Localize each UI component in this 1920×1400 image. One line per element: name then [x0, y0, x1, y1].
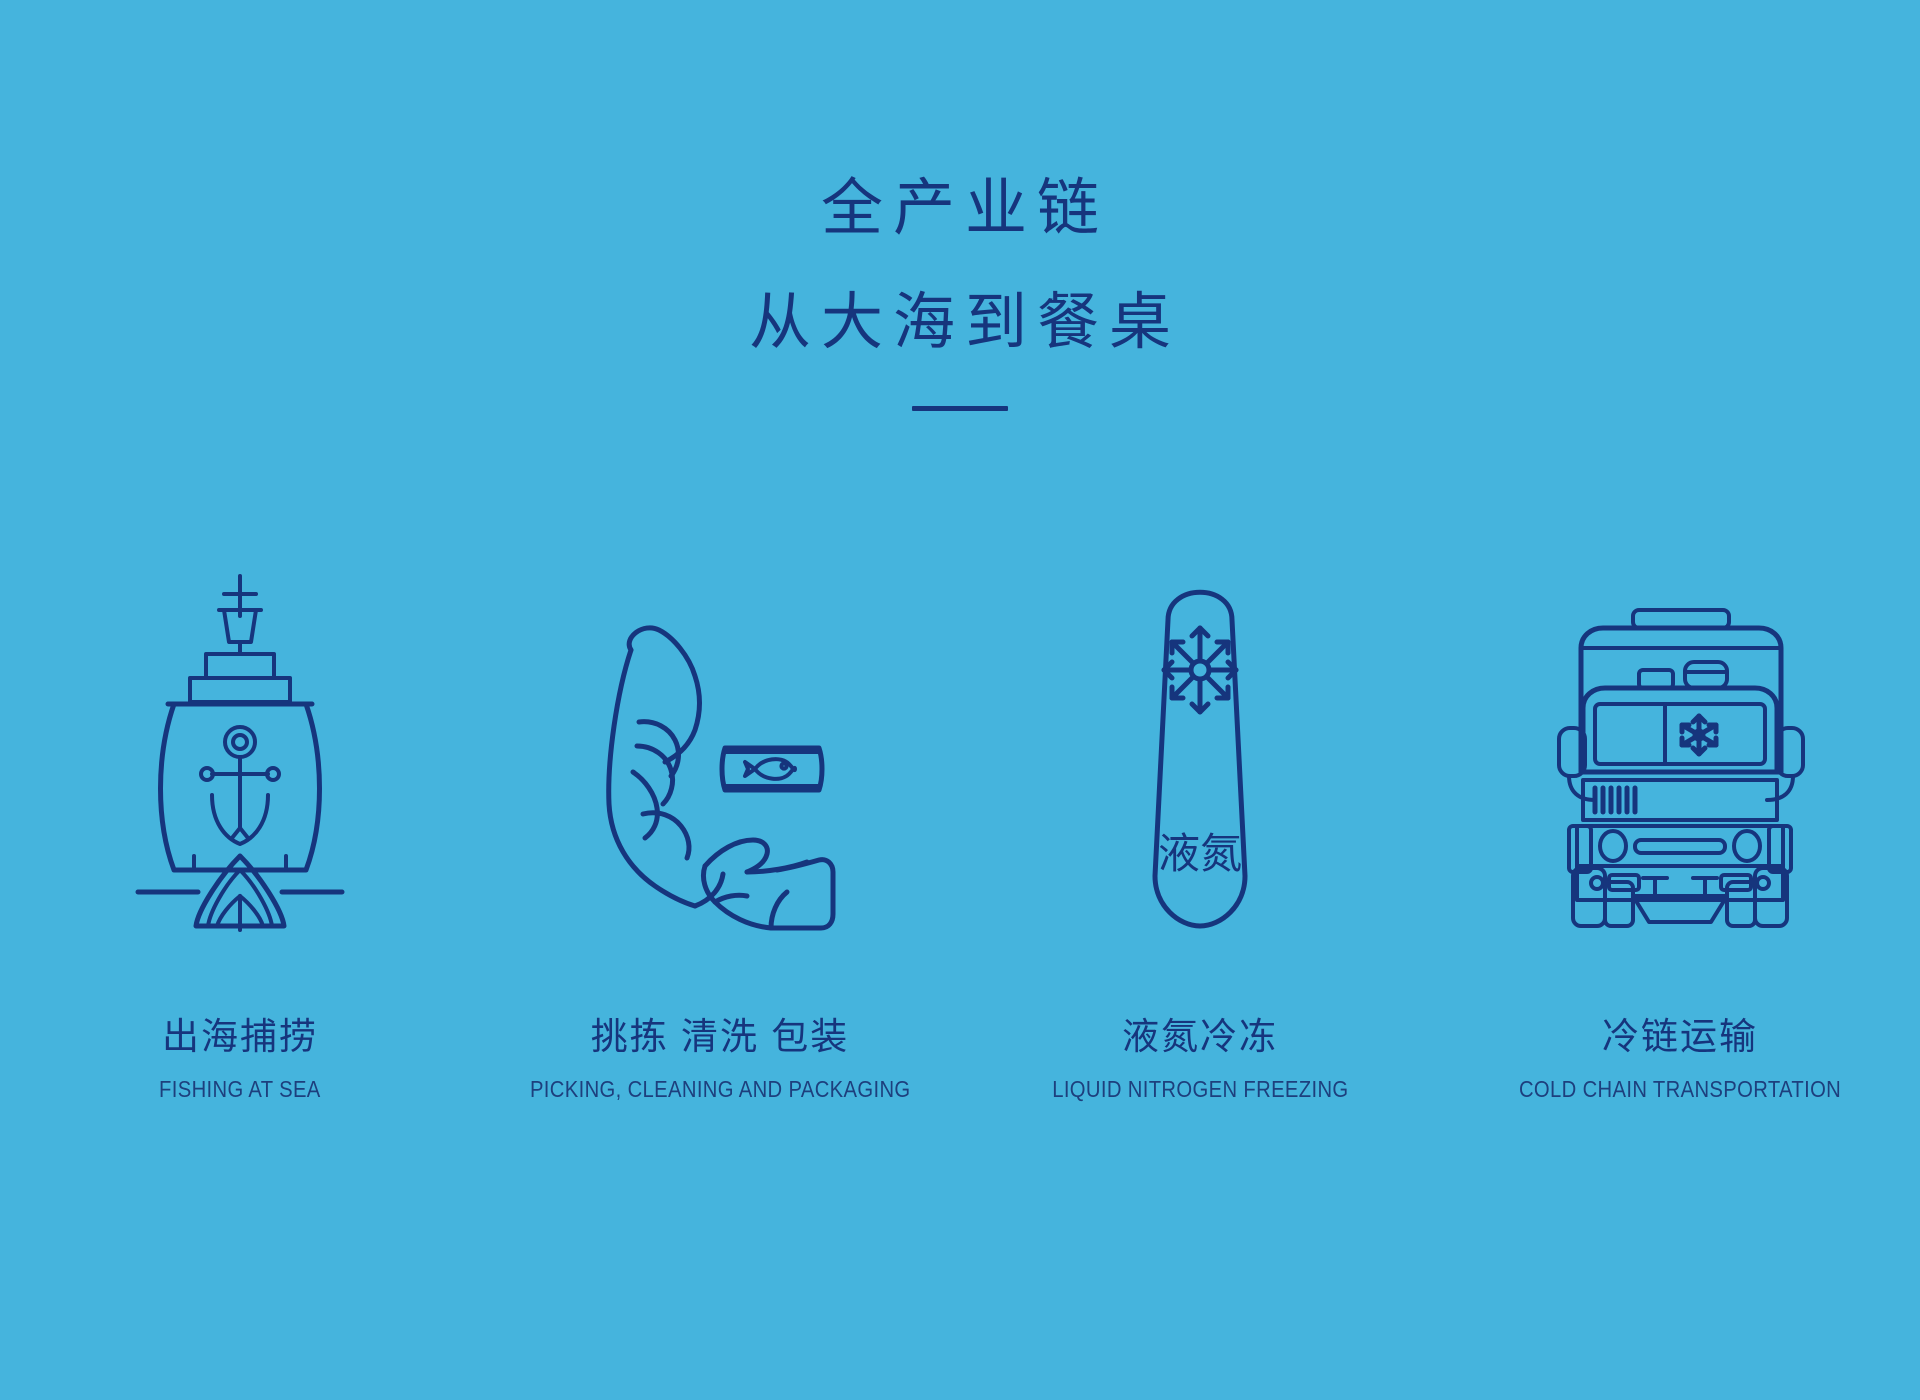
page-root: { "theme": { "background": "#45b4dd", "i…	[0, 0, 1920, 1400]
step-label-cn: 冷链运输	[1497, 1018, 1863, 1055]
grille-slats	[1595, 788, 1635, 812]
step-label-cn: 出海捕捞	[148, 1018, 332, 1055]
title-divider	[912, 406, 1008, 411]
step-cold-chain-transportation[interactable]: 冷链运输 COLD CHAIN TRANSPORTATION	[1440, 530, 1920, 1101]
step-liquid-nitrogen-freezing[interactable]: 液氮 液氮冷冻 LIQUID NITROGEN FREEZING	[960, 530, 1440, 1101]
step-label-en: LIQUID NITROGEN FREEZING	[1052, 1078, 1348, 1101]
step-labels: 挑拣 清洗 包装 PICKING, CLEANING AND PACKAGING	[504, 1018, 936, 1101]
page-title-secondary: 从大海到餐桌	[0, 292, 1920, 354]
title-divider-wrap	[0, 406, 1920, 411]
step-icon-wrap	[120, 530, 360, 930]
snowflake-icon	[1164, 628, 1236, 712]
step-labels: 出海捕捞 FISHING AT SEA	[148, 1018, 332, 1101]
tank-text: 液氮	[1158, 830, 1242, 877]
step-icon-wrap	[585, 530, 855, 930]
step-label-en: FISHING AT SEA	[159, 1078, 321, 1101]
step-label-cn: 挑拣 清洗 包装	[504, 1018, 936, 1055]
snowflake-icon	[1682, 716, 1716, 754]
hands-packaged-fish-icon	[585, 600, 855, 930]
step-icon-wrap	[1555, 530, 1805, 930]
fishing-boat-icon	[120, 570, 360, 930]
step-label-en: COLD CHAIN TRANSPORTATION	[1519, 1078, 1841, 1101]
step-labels: 冷链运输 COLD CHAIN TRANSPORTATION	[1497, 1018, 1863, 1101]
page-title-primary: 全产业链	[0, 178, 1920, 240]
refrigerated-truck-icon	[1555, 600, 1805, 930]
page-header: 全产业链 从大海到餐桌	[0, 178, 1920, 411]
process-steps: 出海捕捞 FISHING AT SEA	[0, 530, 1920, 1101]
step-fishing-at-sea[interactable]: 出海捕捞 FISHING AT SEA	[0, 530, 480, 1101]
step-icon-wrap: 液氮	[1135, 530, 1265, 930]
step-label-en: PICKING, CLEANING AND PACKAGING	[530, 1078, 911, 1101]
liquid-nitrogen-tank-icon: 液氮	[1135, 558, 1265, 930]
step-picking-cleaning-packaging[interactable]: 挑拣 清洗 包装 PICKING, CLEANING AND PACKAGING	[480, 530, 960, 1101]
step-labels: 液氮冷冻 LIQUID NITROGEN FREEZING	[1032, 1018, 1369, 1101]
step-label-cn: 液氮冷冻	[1032, 1018, 1369, 1055]
